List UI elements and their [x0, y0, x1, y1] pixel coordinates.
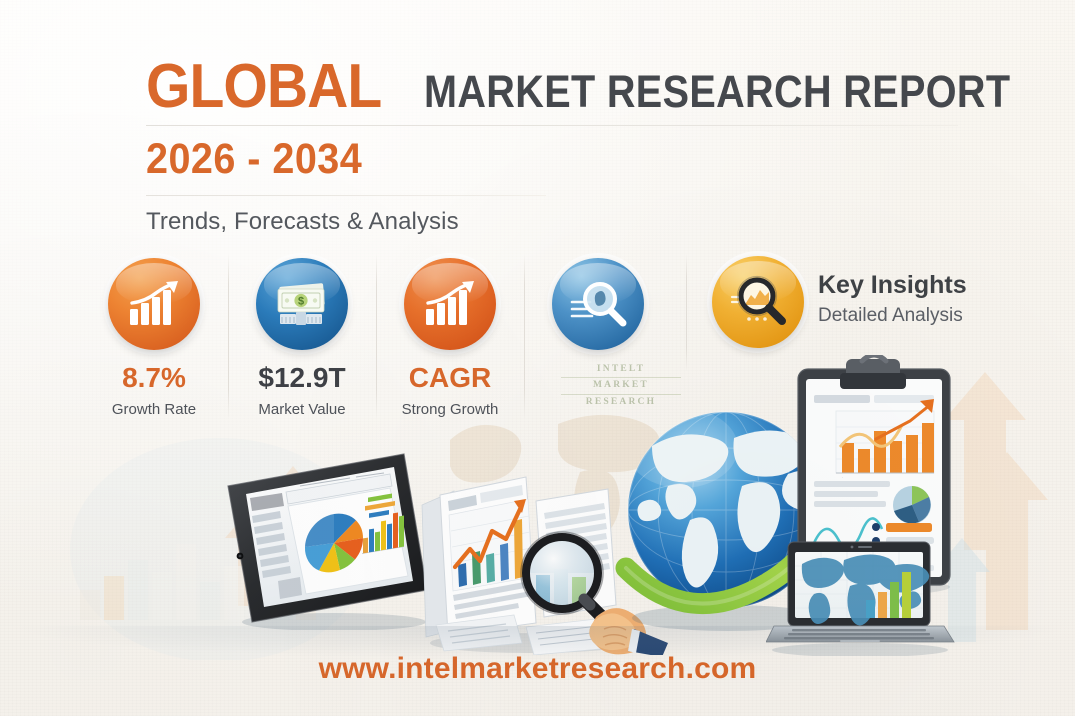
bar-chart-growth-icon [404, 258, 496, 350]
stat-cagr: CAGR Strong Growth [400, 258, 500, 418]
stat-label: Market Value [258, 401, 345, 418]
key-insights-subtitle: Detailed Analysis [818, 305, 967, 327]
key-insights-title: Key Insights [818, 271, 967, 300]
watermark-logo: INTELT MARKET RESEARCH [561, 362, 681, 410]
poster-header: GLOBAL MARKET RESEARCH REPORT 2026 - 203… [146, 58, 958, 236]
key-insights-text: Key Insights Detailed Analysis [818, 271, 967, 333]
key-insights-block: Key Insights Detailed Analysis [712, 256, 967, 348]
stat-value: CAGR [409, 364, 491, 392]
stat-value: $12.9T [258, 364, 345, 392]
watermark-line-3: RESEARCH [561, 395, 681, 410]
report-years: 2026 - 2034 [146, 138, 893, 181]
tablet-device [222, 450, 432, 630]
subtitle: Trends, Forecasts & Analysis [146, 208, 958, 236]
svg-text:·: · [842, 475, 843, 480]
subtitle-divider [146, 195, 546, 196]
website-url[interactable]: www.intelmarketresearch.com [0, 652, 1075, 686]
main-title: GLOBAL MARKET RESEARCH REPORT [146, 58, 958, 117]
watermark-line-1: INTELT [561, 362, 681, 378]
stat-label: Strong Growth [402, 401, 499, 418]
watermark-line-2: MARKET [561, 378, 681, 394]
stat-research [548, 258, 648, 350]
magnifier-chart-icon [712, 256, 804, 348]
bar-chart-growth-icon [108, 258, 200, 350]
title-rest: MARKET RESEARCH REPORT [424, 69, 1010, 114]
magnifier-document-icon [552, 258, 644, 350]
title-divider [146, 125, 958, 126]
stat-label: Growth Rate [112, 401, 196, 418]
stat-value: 8.7% [122, 364, 186, 392]
stat-market-value: $ $12.9T [252, 258, 352, 418]
stat-growth-rate: 8.7% Growth Rate [104, 258, 204, 418]
money-banknote-icon: $ [256, 258, 348, 350]
title-highlight: GLOBAL [146, 58, 381, 117]
poster-canvas: · [0, 0, 1075, 716]
svg-text:$: $ [298, 296, 304, 308]
